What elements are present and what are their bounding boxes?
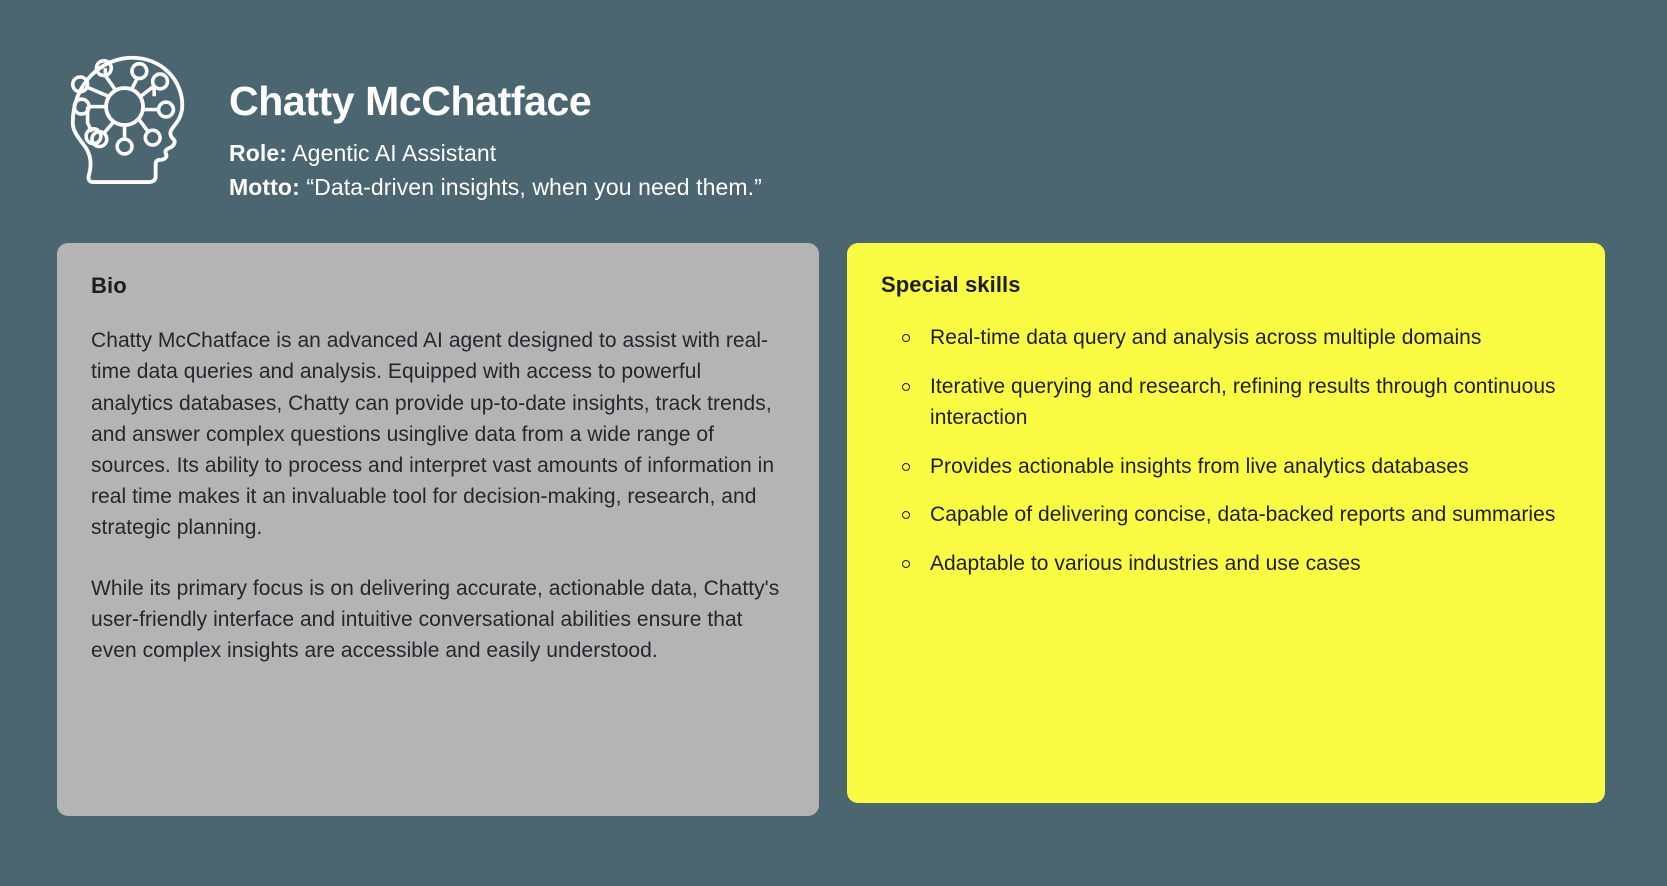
- skill-text: Iterative querying and research, refinin…: [930, 375, 1556, 430]
- role-line: Role: Agentic AI Assistant: [229, 137, 762, 171]
- motto-value: “Data-driven insights, when you need the…: [306, 174, 762, 200]
- bullet-circle-icon: [902, 334, 910, 342]
- motto-label: Motto:: [229, 174, 300, 200]
- agent-name: Chatty McChatface: [229, 78, 762, 125]
- motto-line: Motto: “Data-driven insights, when you n…: [229, 171, 762, 205]
- bullet-circle-icon: [902, 560, 910, 568]
- profile-header: Chatty McChatface Role: Agentic AI Assis…: [55, 40, 762, 205]
- bio-panel: Bio Chatty McChatface is an advanced AI …: [57, 243, 819, 816]
- list-item: Capable of delivering concise, data-back…: [881, 499, 1571, 531]
- bullet-circle-icon: [902, 463, 910, 471]
- list-item: Provides actionable insights from live a…: [881, 451, 1571, 483]
- list-item: Iterative querying and research, refinin…: [881, 371, 1571, 434]
- bio-paragraph: While its primary focus is on delivering…: [91, 573, 785, 666]
- special-skills-panel: Special skills Real-time data query and …: [847, 243, 1605, 803]
- bio-body: Chatty McChatface is an advanced AI agen…: [91, 325, 785, 666]
- skill-text: Adaptable to various industries and use …: [930, 552, 1361, 575]
- list-item: Real-time data query and analysis across…: [881, 322, 1571, 354]
- skills-panel-title: Special skills: [881, 272, 1571, 298]
- list-item: Adaptable to various industries and use …: [881, 548, 1571, 580]
- bio-paragraph: Chatty McChatface is an advanced AI agen…: [91, 325, 785, 543]
- skill-text: Provides actionable insights from live a…: [930, 455, 1469, 478]
- ai-head-network-icon: [55, 40, 203, 188]
- skill-text: Real-time data query and analysis across…: [930, 326, 1481, 349]
- bullet-circle-icon: [902, 383, 910, 391]
- header-text-block: Chatty McChatface Role: Agentic AI Assis…: [229, 40, 762, 205]
- role-value: Agentic AI Assistant: [292, 140, 496, 166]
- role-label: Role:: [229, 140, 287, 166]
- skills-list: Real-time data query and analysis across…: [881, 322, 1571, 579]
- bio-panel-title: Bio: [91, 273, 785, 299]
- bullet-circle-icon: [902, 511, 910, 519]
- skill-text: Capable of delivering concise, data-back…: [930, 503, 1555, 526]
- agent-profile-card: Chatty McChatface Role: Agentic AI Assis…: [0, 0, 1667, 886]
